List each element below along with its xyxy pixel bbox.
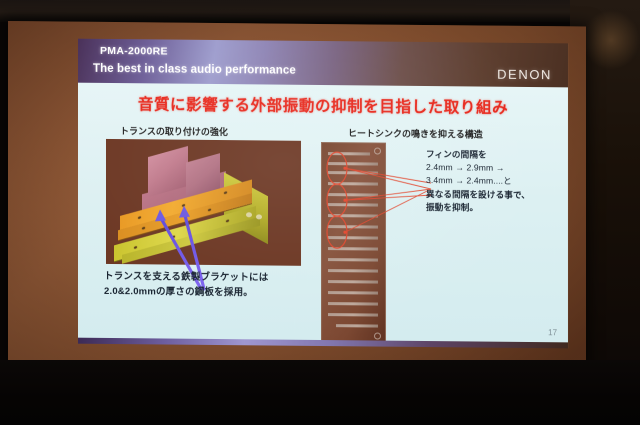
right-section-heading: ヒートシンクの鳴きを抑える構造 xyxy=(348,126,483,140)
left-section-heading: トランスの取り付けの強化 xyxy=(120,124,228,138)
denon-brand-logo: DENON xyxy=(497,67,552,83)
transformer-cad-image xyxy=(106,139,301,266)
room-light-glow xyxy=(582,10,640,70)
annotation-line-5: 振動を抑制。 xyxy=(426,201,554,215)
cad-scene xyxy=(106,139,301,266)
annotation-line-2: 2.4mm → 2.9mm → xyxy=(426,161,554,175)
room-foreground xyxy=(0,360,640,425)
left-section-caption: トランスを支える鉄製ブラケットには 2.0&2.0mmの厚さの鋼板を採用。 xyxy=(104,269,268,301)
slide-title: 音質に影響する外部振動の抑制を目指した取り組み xyxy=(78,92,568,119)
annotation-line-3: 3.4mm → 2.4mm....と xyxy=(426,174,554,188)
fin-spacing-callouts xyxy=(321,142,441,343)
presentation-slide: PMA-2000RE The best in class audio perfo… xyxy=(78,39,568,349)
slide-page-number: 17 xyxy=(548,328,557,337)
product-tagline: The best in class audio performance xyxy=(93,63,296,77)
annotation-line-1: フィンの間隔を xyxy=(426,148,554,162)
slide-header: PMA-2000RE The best in class audio perfo… xyxy=(78,39,568,88)
projection-screen: PMA-2000RE The best in class audio perfo… xyxy=(8,21,586,369)
room-ceiling xyxy=(0,0,640,22)
slide-body: 音質に影響する外部振動の抑制を目指した取り組み トランスの取り付けの強化 ヒート… xyxy=(78,83,568,343)
slide-photo: PMA-2000RE The best in class audio perfo… xyxy=(0,0,640,425)
annotation-line-4: 異なる間隔を設ける事で、 xyxy=(426,188,554,202)
product-model-label: PMA-2000RE xyxy=(100,45,168,58)
caption-line-2: 2.0&2.0mmの厚さの鋼板を採用。 xyxy=(104,284,268,301)
fin-spacing-annotation: フィンの間隔を 2.4mm → 2.9mm → 3.4mm → 2.4mm...… xyxy=(426,148,554,215)
caption-line-1: トランスを支える鉄製ブラケットには xyxy=(104,269,268,286)
